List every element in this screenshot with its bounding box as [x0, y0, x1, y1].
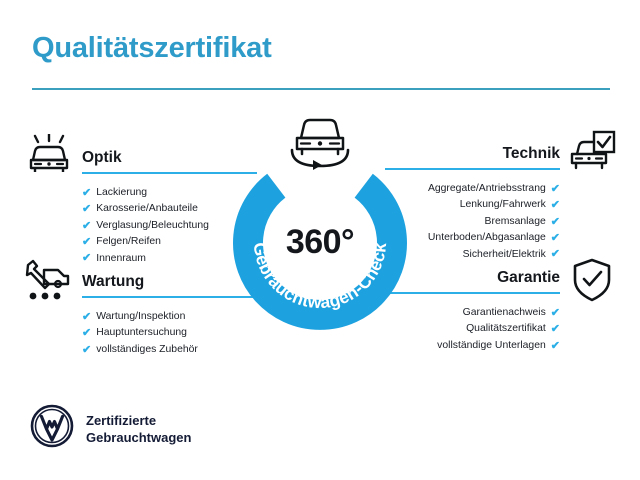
check-icon: ✔	[551, 249, 560, 260]
check-icon: ✔	[82, 253, 91, 264]
check-icon: ✔	[82, 328, 91, 339]
list-item-label: Wartung/Inspektion	[96, 309, 185, 325]
list-item-label: Aggregate/Antriebsstrang	[428, 181, 546, 197]
list-item-label: Bremsanlage	[485, 214, 546, 230]
check-icon: ✔	[551, 341, 560, 352]
list-item-label: Unterboden/Abgasanlage	[428, 230, 546, 246]
list-item-label: Lackierung	[96, 185, 147, 201]
vw-footer: Zertifizierte Gebrauchtwagen	[30, 404, 191, 453]
vw-logo-icon	[30, 404, 74, 453]
badge-360-gebrauchtwagen-check: Gebrauchtwagen-Check 360°	[228, 150, 412, 334]
certificate-page: Qualitätszertifikat Optik	[0, 0, 640, 480]
check-icon: ✔	[551, 200, 560, 211]
vw-footer-line1: Zertifizierte	[86, 412, 191, 429]
wrench-car-service-icon	[22, 258, 74, 307]
list-item-label: Karosserie/Anbauteile	[96, 201, 198, 217]
check-icon: ✔	[551, 233, 560, 244]
section-optik-title: Optik	[82, 149, 122, 167]
list-item-label: Innenraum	[96, 251, 146, 267]
list-item-label: Felgen/Reifen	[96, 234, 161, 250]
check-icon: ✔	[551, 184, 560, 195]
check-icon: ✔	[82, 237, 91, 248]
list-item-label: vollständige Unterlagen	[437, 338, 546, 354]
list-item-label: Hauptuntersuchung	[96, 325, 187, 341]
list-item: ✔ vollständiges Zubehör	[82, 342, 257, 358]
check-icon: ✔	[82, 345, 91, 356]
check-icon: ✔	[551, 308, 560, 319]
check-icon: ✔	[551, 324, 560, 335]
header-divider	[32, 88, 610, 90]
check-icon: ✔	[82, 204, 91, 215]
page-title: Qualitätszertifikat	[32, 32, 272, 65]
shield-check-icon	[572, 258, 612, 307]
list-item-label: Verglasung/Beleuchtung	[96, 218, 209, 234]
vw-footer-text: Zertifizierte Gebrauchtwagen	[86, 412, 191, 446]
car-front-rotate-icon	[280, 114, 360, 172]
check-icon: ✔	[82, 312, 91, 323]
section-garantie-title: Garantie	[497, 269, 560, 287]
list-item-label: Lenkung/Fahrwerk	[460, 197, 546, 213]
list-item-label: vollständiges Zubehör	[96, 342, 198, 358]
list-item-label: Sicherheit/Elektrik	[463, 247, 546, 263]
list-item: vollständige Unterlagen ✔	[385, 338, 560, 354]
section-wartung-title: Wartung	[82, 273, 144, 291]
car-front-checkbox-icon	[568, 130, 616, 179]
check-icon: ✔	[82, 221, 91, 232]
vw-footer-line2: Gebrauchtwagen	[86, 429, 191, 446]
check-icon: ✔	[551, 217, 560, 228]
car-front-shine-icon	[26, 134, 72, 181]
list-item-label: Qualitätszertifikat	[466, 321, 546, 337]
section-technik-title: Technik	[503, 145, 560, 163]
list-item-label: Garantienachweis	[463, 305, 546, 321]
check-icon: ✔	[82, 188, 91, 199]
